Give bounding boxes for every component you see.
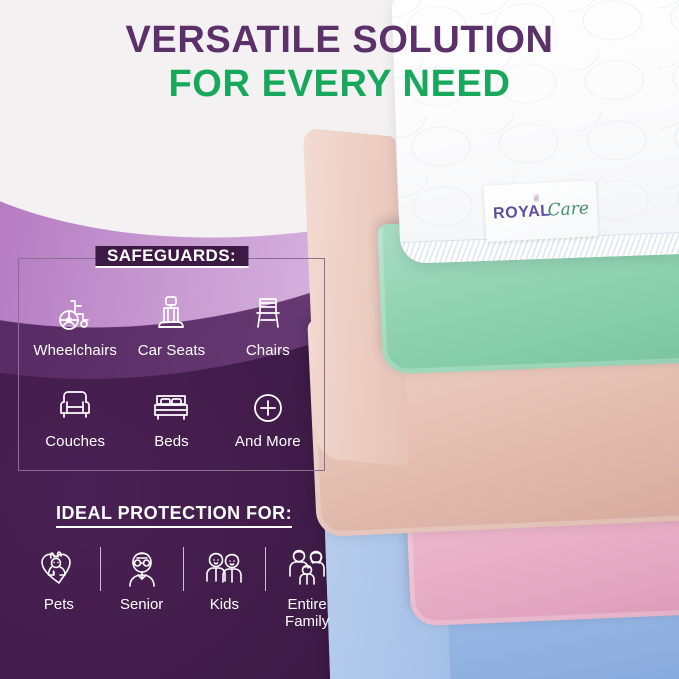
safeguard-label: Car Seats xyxy=(138,342,206,359)
ideal-protection-list: Pets Senior xyxy=(18,545,348,631)
safeguards-title: SAFEGUARDS: xyxy=(95,246,248,268)
safeguard-item-beds: Beds xyxy=(123,372,219,463)
audience-item-entire-family: EntireFamily xyxy=(266,545,348,631)
audience-label: Kids xyxy=(210,597,239,614)
pets-heart-icon xyxy=(38,545,80,589)
audience-label: Senior xyxy=(120,597,163,614)
safeguard-label: Beds xyxy=(154,433,189,450)
ideal-protection-title: IDEAL PROTECTION FOR: xyxy=(56,503,292,528)
safeguard-label: And More xyxy=(235,433,301,450)
headline: VERSATILE SOLUTION FOR EVERY NEED xyxy=(0,18,679,106)
bed-icon xyxy=(149,384,193,426)
product-infographic: ♕ ROYAL Care VERSATILE SOLUTION FOR EVER… xyxy=(0,0,679,679)
couch-icon xyxy=(54,384,96,426)
chair-icon xyxy=(250,293,286,335)
audience-item-senior: Senior xyxy=(101,545,183,614)
car-seat-icon xyxy=(152,293,190,335)
audience-label: EntireFamily xyxy=(285,597,329,631)
safeguard-label: Couches xyxy=(45,433,105,450)
audience-label: Pets xyxy=(44,597,74,614)
plus-circle-icon xyxy=(250,384,286,426)
family-icon xyxy=(283,545,331,589)
wheelchair-icon xyxy=(54,293,96,335)
audience-item-pets: Pets xyxy=(18,545,100,614)
headline-line-1: VERSATILE SOLUTION xyxy=(0,18,679,62)
safeguard-label: Wheelchairs xyxy=(33,342,117,359)
safeguard-label: Chairs xyxy=(246,342,290,359)
senior-person-icon xyxy=(122,545,162,589)
audience-item-kids: Kids xyxy=(184,545,266,614)
brand-name-primary: ROYAL xyxy=(493,203,551,224)
safeguard-item-couches: Couches xyxy=(27,372,123,463)
brand-logo-tag: ♕ ROYAL Care xyxy=(484,180,599,242)
safeguard-item-car-seats: Car Seats xyxy=(123,281,219,372)
kids-icon xyxy=(201,545,247,589)
safeguards-panel: SAFEGUARDS: Wheelchairs xyxy=(18,258,325,471)
product-image: ♕ ROYAL Care xyxy=(300,40,679,679)
crown-icon: ♕ xyxy=(532,194,541,203)
brand-name-secondary: Care xyxy=(547,199,589,221)
safeguard-item-wheelchairs: Wheelchairs xyxy=(27,281,123,372)
safeguard-item-and-more: And More xyxy=(220,372,316,463)
headline-line-2: FOR EVERY NEED xyxy=(0,62,679,106)
safeguard-item-chairs: Chairs xyxy=(220,281,316,372)
